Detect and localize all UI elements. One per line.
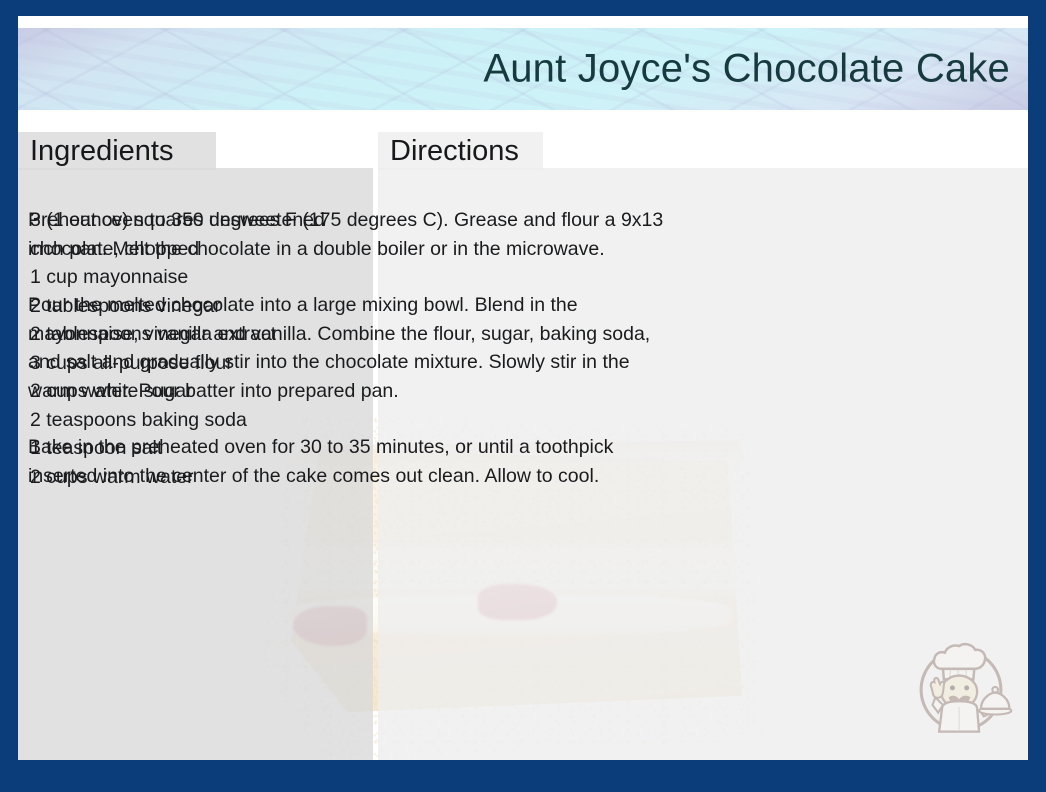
directions-steps: Preheat oven to 350 degrees F (175 degre…	[28, 206, 676, 490]
direction-step: Bake in the preheated oven for 30 to 35 …	[28, 433, 676, 490]
recipe-card: Aunt Joyce's Chocolate Cake Ingredients …	[0, 0, 1046, 792]
title-banner: Aunt Joyce's Chocolate Cake	[18, 28, 1028, 110]
tab-ingredients[interactable]: Ingredients	[18, 132, 216, 170]
recipe-title: Aunt Joyce's Chocolate Cake	[483, 47, 1010, 92]
recipe-page: Aunt Joyce's Chocolate Cake Ingredients …	[18, 16, 1028, 760]
tab-directions[interactable]: Directions	[378, 132, 543, 170]
directions-heading: Directions	[390, 137, 519, 166]
ingredients-heading: Ingredients	[30, 137, 174, 166]
direction-step: Pour the melted chocolate into a large m…	[28, 291, 676, 405]
direction-step: Preheat oven to 350 degrees F (175 degre…	[28, 206, 676, 263]
